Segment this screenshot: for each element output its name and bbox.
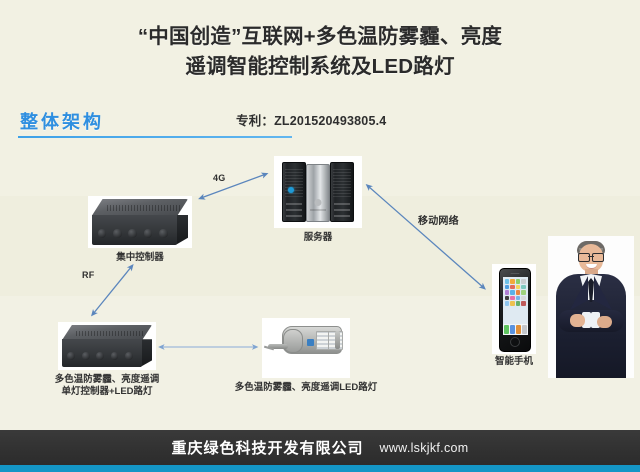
title-line-1: “中国创造”互联网+多色温防雾霾、亮度 bbox=[0, 22, 640, 52]
server-tower-center bbox=[306, 164, 330, 222]
server-tower-right bbox=[330, 162, 354, 222]
node-caption: 智能手机 bbox=[495, 356, 533, 368]
patent-number: 专利：ZL201520493805.4 bbox=[236, 110, 456, 129]
slide-canvas: “中国创造”互联网+多色温防雾霾、亮度 遥调智能控制系统及LED路灯 专利：ZL… bbox=[0, 0, 640, 472]
node-caption-line2: 单灯控制器+LED路灯 bbox=[61, 386, 152, 398]
title-line-2: 遥调智能控制系统及LED路灯 bbox=[0, 52, 640, 82]
businessman-photo bbox=[548, 236, 634, 378]
node-caption: 多色温防雾霾、亮度遥调LED路灯 bbox=[235, 382, 378, 394]
node-led-street-lamp: 多色温防雾霾、亮度遥调LED路灯 bbox=[262, 318, 350, 378]
server-tower-left bbox=[282, 162, 306, 222]
phone-screen bbox=[503, 277, 528, 335]
node-single-lamp-controller: 多色温防雾霾、亮度遥调 单灯控制器+LED路灯 bbox=[58, 322, 156, 370]
node-caption: 服务器 bbox=[304, 232, 333, 244]
node-caption-line1: 多色温防雾霾、亮度遥调 bbox=[55, 374, 160, 386]
node-caption: 集中控制器 bbox=[116, 252, 164, 264]
footer-bar: 重庆绿色科技开发有限公司 www.lskjkf.com bbox=[0, 430, 640, 472]
footer-website-url[interactable]: www.lskjkf.com bbox=[380, 441, 469, 455]
controller-box-icon bbox=[88, 196, 192, 248]
footer-accent-strip bbox=[0, 465, 640, 472]
node-centralized-controller: 集中控制器 bbox=[88, 196, 192, 248]
arrow-label-mobile-network: 移动网络 bbox=[418, 212, 459, 227]
server-tower-icon bbox=[274, 156, 362, 228]
node-server: 服务器 bbox=[274, 156, 362, 228]
footer-company-name: 重庆绿色科技开发有限公司 bbox=[172, 437, 364, 458]
arrow-label-rf: RF bbox=[82, 270, 94, 280]
street-lamp-icon bbox=[262, 318, 350, 378]
controller-box-icon bbox=[58, 322, 156, 370]
node-smartphone: 智能手机 bbox=[492, 264, 536, 354]
section-title-underline bbox=[18, 136, 292, 138]
section-title: 整体架构 bbox=[20, 108, 104, 134]
smartphone-icon bbox=[492, 264, 536, 354]
slide-title: “中国创造”互联网+多色温防雾霾、亮度 遥调智能控制系统及LED路灯 bbox=[0, 22, 640, 82]
arrow-label-4g: 4G bbox=[213, 173, 225, 183]
